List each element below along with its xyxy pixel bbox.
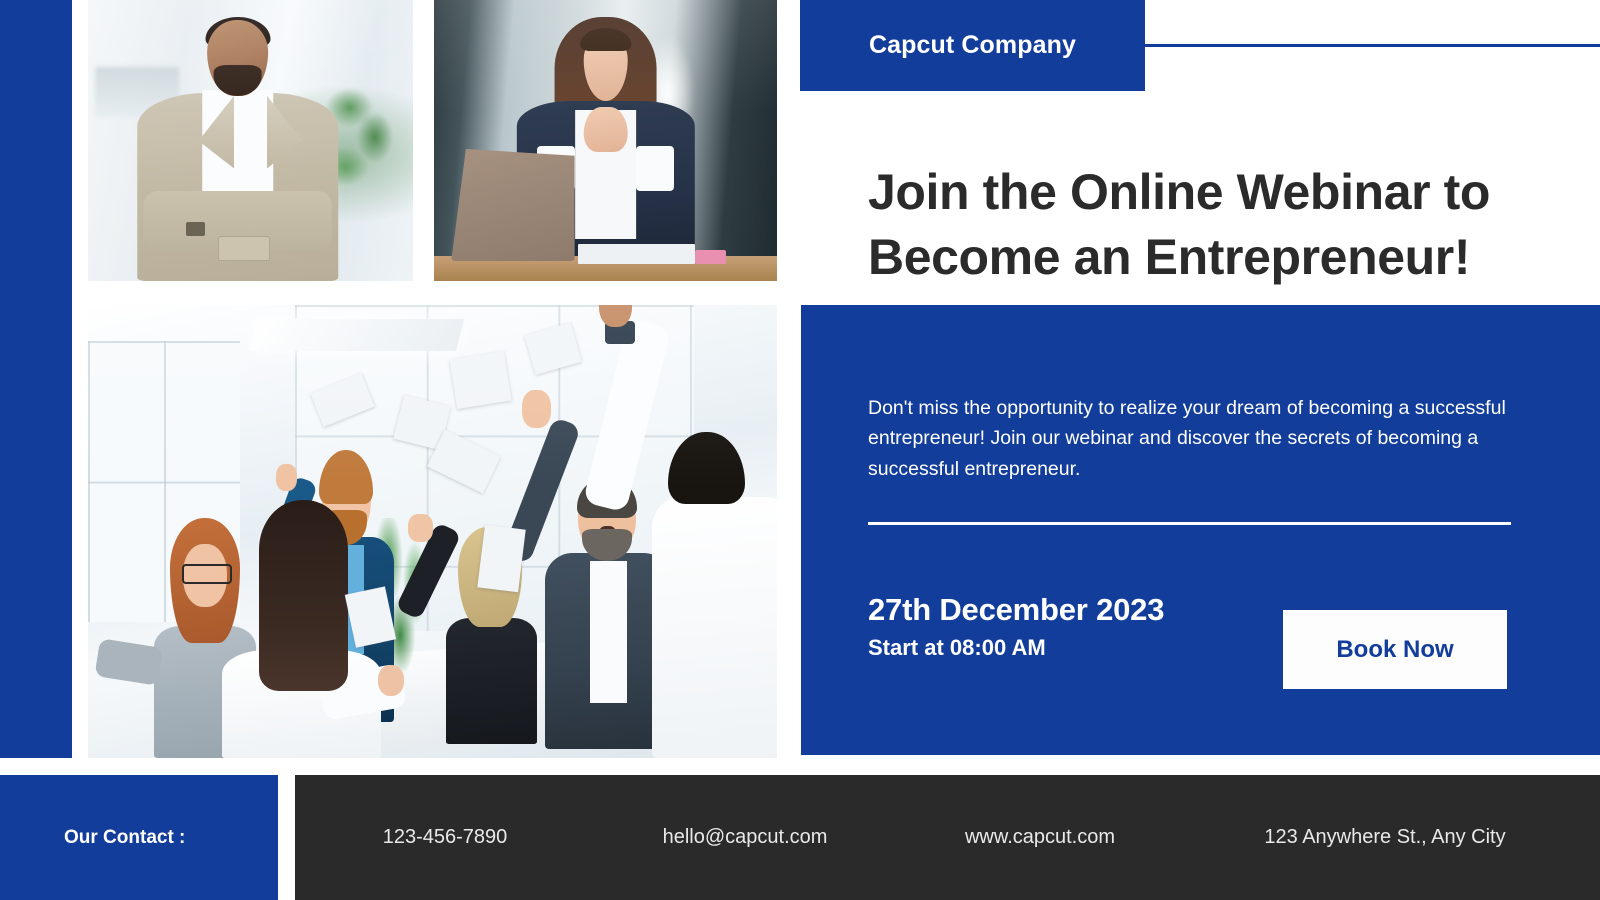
details-panel: Don't miss the opportunity to realize yo… <box>801 305 1600 755</box>
cuff-right <box>636 146 674 191</box>
clasped-hands <box>583 107 628 152</box>
wristwatch <box>186 222 206 236</box>
desk-papers <box>578 244 695 264</box>
flying-paper <box>450 351 512 409</box>
photo-team-celebration <box>88 305 777 758</box>
brand-name: Capcut Company <box>800 31 1076 60</box>
footer-contact-bar: 123-456-7890 hello@capcut.com www.capcut… <box>295 775 1600 900</box>
contact-email[interactable]: hello@capcut.com <box>595 826 895 849</box>
photo-businesswoman-scene <box>434 0 777 281</box>
photo-businesswoman <box>434 0 777 281</box>
event-date: 27th December 2023 <box>868 592 1164 628</box>
laptop <box>451 149 574 261</box>
panel-description: Don't miss the opportunity to realize yo… <box>868 393 1513 485</box>
shirt-cuff <box>218 236 270 261</box>
footer-contact-list: 123-456-7890 hello@capcut.com www.capcut… <box>295 826 1600 849</box>
left-accent-bar <box>0 0 72 758</box>
brand-badge: Capcut Company <box>800 0 1145 91</box>
footer-label-box: Our Contact : <box>0 775 278 900</box>
panel-divider-line <box>868 522 1511 525</box>
contact-website[interactable]: www.capcut.com <box>895 826 1185 849</box>
photo-team-scene <box>88 305 777 758</box>
contact-address: 123 Anywhere St., Any City <box>1185 826 1585 849</box>
person-arms-raised <box>660 432 777 758</box>
ceiling-light <box>249 319 464 351</box>
event-datetime: 27th December 2023 Start at 08:00 AM <box>868 592 1164 662</box>
photo-businessman-scene <box>88 0 413 281</box>
footer-label: Our Contact : <box>0 827 185 849</box>
page-title: Join the Online Webinar to Become an Ent… <box>868 160 1568 290</box>
photo-businessman <box>88 0 413 281</box>
book-now-button[interactable]: Book Now <box>1283 610 1507 689</box>
flyer-canvas: Capcut Company Join the Online Webinar t… <box>0 0 1600 900</box>
event-time: Start at 08:00 AM <box>868 634 1164 663</box>
pink-folder <box>695 250 726 264</box>
contact-phone[interactable]: 123-456-7890 <box>295 826 595 849</box>
brand-divider-line <box>1145 44 1600 47</box>
flying-paper <box>477 525 526 593</box>
